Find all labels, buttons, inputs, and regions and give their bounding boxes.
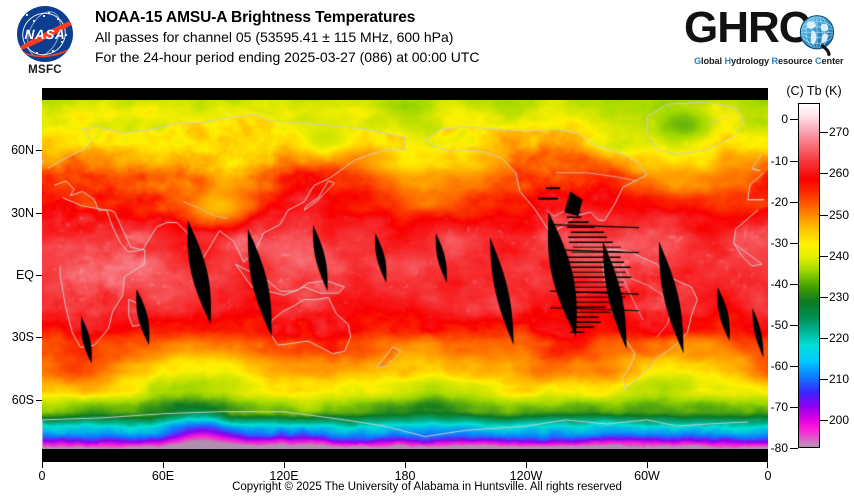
colorbar-label-kelvin: 220 <box>829 331 849 345</box>
figure-page: NASA MSFC NOAA-15 AMSU-A Brightness Temp… <box>0 0 854 502</box>
colorbar-label-celsius: 0 <box>781 112 788 126</box>
colorbar-label-celsius: -60 <box>771 359 788 373</box>
longitude-tick <box>405 462 406 468</box>
globe-icon <box>794 12 840 58</box>
colorbar-tick-celsius <box>790 161 798 162</box>
colorbar-tick-kelvin <box>820 379 828 380</box>
longitude-tick <box>284 462 285 468</box>
longitude-tick <box>767 462 768 468</box>
latitude-tick-label: 30S <box>0 330 34 344</box>
colorbar-tick-kelvin <box>820 256 828 257</box>
longitude-tick <box>163 462 164 468</box>
longitude-tick <box>647 462 648 468</box>
colorbar-label-kelvin: 210 <box>829 372 849 386</box>
colorbar-tick-celsius <box>790 284 798 285</box>
figure-header: NASA MSFC NOAA-15 AMSU-A Brightness Temp… <box>0 0 854 86</box>
longitude-tick <box>526 462 527 468</box>
latitude-axis: 60N30NEQ30S60S <box>0 0 34 502</box>
ghrc-tagline: Global Hydrology Resource Center <box>694 56 844 66</box>
colorbar-label-celsius: -10 <box>771 154 788 168</box>
colorbar-tick-kelvin <box>820 420 828 421</box>
colorbar-label-celsius: -70 <box>771 400 788 414</box>
colorbar-tick-kelvin <box>820 297 828 298</box>
latitude-tick <box>36 213 42 214</box>
colorbar-tick-celsius <box>790 325 798 326</box>
subtitle-channel: All passes for channel 05 (53595.41 ± 11… <box>95 27 655 47</box>
colorbar-tick-celsius <box>790 448 798 449</box>
colorbar[interactable]: (C) Tb (K) 0-10-20-30-40-50-60-70-802702… <box>776 84 854 474</box>
colorbar-label-celsius: -80 <box>771 441 788 455</box>
map-frame <box>42 88 768 462</box>
ghrc-logo: GHRC <box>684 4 844 78</box>
colorbar-label-celsius: -50 <box>771 318 788 332</box>
brightness-temperature-map[interactable] <box>42 88 768 462</box>
copyright-notice: Copyright © 2025 The University of Alaba… <box>0 481 854 493</box>
colorbar-label-kelvin: 230 <box>829 290 849 304</box>
latitude-tick-label: 60N <box>0 143 34 157</box>
colorbar-label-kelvin: 200 <box>829 413 849 427</box>
map-data-layer <box>42 100 768 449</box>
colorbar-tick-celsius <box>790 202 798 203</box>
latitude-tick <box>36 337 42 338</box>
colorbar-tick-kelvin <box>820 338 828 339</box>
colorbar-tick-celsius <box>790 119 798 120</box>
colorbar-label-celsius: -20 <box>771 195 788 209</box>
longitude-tick <box>42 462 43 468</box>
latitude-tick <box>36 150 42 151</box>
colorbar-tick-kelvin <box>820 215 828 216</box>
latitude-tick <box>36 400 42 401</box>
colorbar-tick-kelvin <box>820 132 828 133</box>
title-block: NOAA-15 AMSU-A Brightness Temperatures A… <box>95 8 655 67</box>
colorbar-tick-celsius <box>790 407 798 408</box>
colorbar-label-kelvin: 270 <box>829 125 849 139</box>
nodata-band-north <box>42 88 768 100</box>
colorbar-label-celsius: -40 <box>771 277 788 291</box>
colorbar-label-kelvin: 260 <box>829 166 849 180</box>
colorbar-label-kelvin: 240 <box>829 249 849 263</box>
subtitle-period: For the 24-hour period ending 2025-03-27… <box>95 47 655 67</box>
colorbar-label-celsius: -30 <box>771 236 788 250</box>
colorbar-tick-kelvin <box>820 173 828 174</box>
page-title: NOAA-15 AMSU-A Brightness Temperatures <box>95 8 655 27</box>
latitude-tick <box>36 275 42 276</box>
latitude-tick-label: EQ <box>0 268 34 282</box>
latitude-tick-label: 60S <box>0 393 34 407</box>
colorbar-tick-celsius <box>790 366 798 367</box>
colorbar-header: (C) Tb (K) <box>774 84 854 98</box>
colorbar-gradient <box>798 103 820 448</box>
colorbar-label-kelvin: 250 <box>829 208 849 222</box>
latitude-tick-label: 30N <box>0 206 34 220</box>
ghrc-wordmark: GHRC <box>684 6 810 50</box>
colorbar-tick-celsius <box>790 243 798 244</box>
nodata-band-south <box>42 449 768 462</box>
